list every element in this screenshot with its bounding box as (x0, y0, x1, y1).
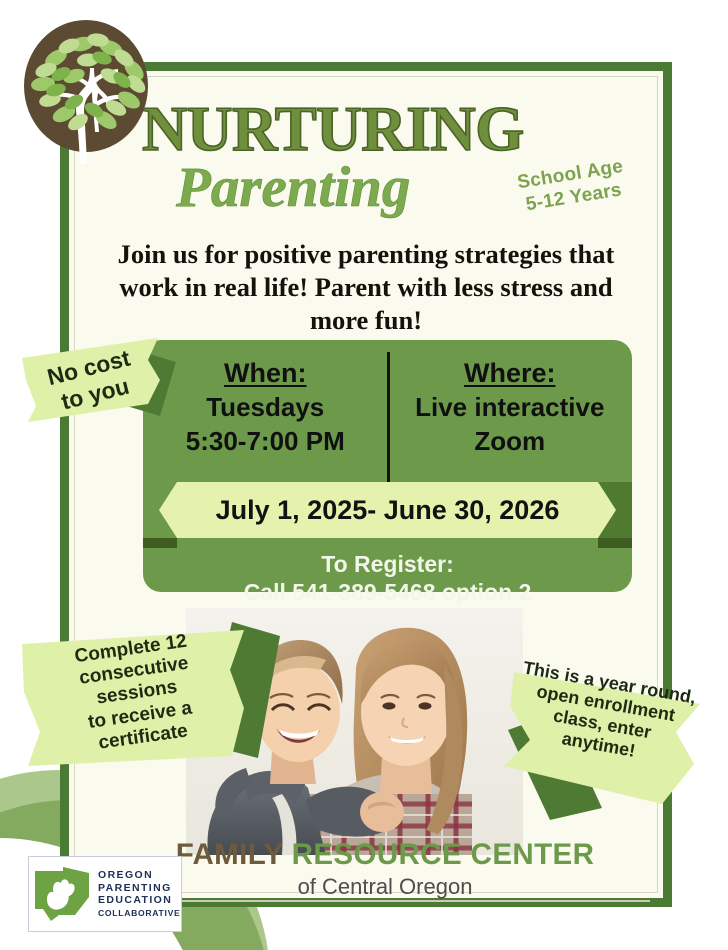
page-title: NURTURING (120, 98, 660, 160)
column-divider (387, 352, 390, 485)
oregon-hands-icon (29, 863, 95, 925)
opec-logo-text: OREGON PARENTING EDUCATION COLLABORATIVE (95, 869, 180, 919)
where-column: Where: Live interactive Zoom (388, 350, 633, 495)
register-info: To Register: Call 541-389-5468 option 2 (143, 550, 632, 606)
where-line2: Zoom (474, 426, 545, 456)
date-range-text: July 1, 2025- June 30, 2026 (143, 482, 632, 538)
org-name-part2: RESOURCE CENTER (292, 838, 595, 871)
opec-line2: PARENTING (98, 882, 180, 895)
ribbon-year-round: This is a year round, open enrollment cl… (494, 648, 728, 820)
date-ribbon: July 1, 2025- June 30, 2026 (143, 482, 632, 548)
where-header: Where: (388, 356, 633, 390)
tree-logo-icon (16, 14, 166, 174)
when-line1: Tuesdays (206, 392, 324, 422)
ribbon-no-cost: No cost to you (8, 330, 186, 430)
opec-logo: OREGON PARENTING EDUCATION COLLABORATIVE (28, 856, 182, 932)
org-name-part1: FAMILY (176, 838, 283, 871)
intro-paragraph: Join us for positive parenting strategie… (88, 238, 644, 337)
when-line2: 5:30-7:00 PM (186, 426, 345, 456)
opec-line1: OREGON (98, 869, 180, 882)
register-line1: To Register: (143, 550, 632, 578)
ribbon-certificate: Complete 12 consecutive sessions to rece… (18, 614, 298, 774)
flyer-root: NURTURING Parenting School Age 5-12 Year… (0, 0, 728, 950)
organization-name: FAMILY RESOURCE CENTER (150, 838, 620, 872)
opec-line4: COLLABORATIVE (98, 907, 180, 920)
where-line1: Live interactive (415, 392, 604, 422)
organization-location: of Central Oregon (150, 874, 620, 900)
opec-line3: EDUCATION (98, 894, 180, 907)
register-phone: Call 541-389-5468 option 2 (143, 578, 632, 606)
